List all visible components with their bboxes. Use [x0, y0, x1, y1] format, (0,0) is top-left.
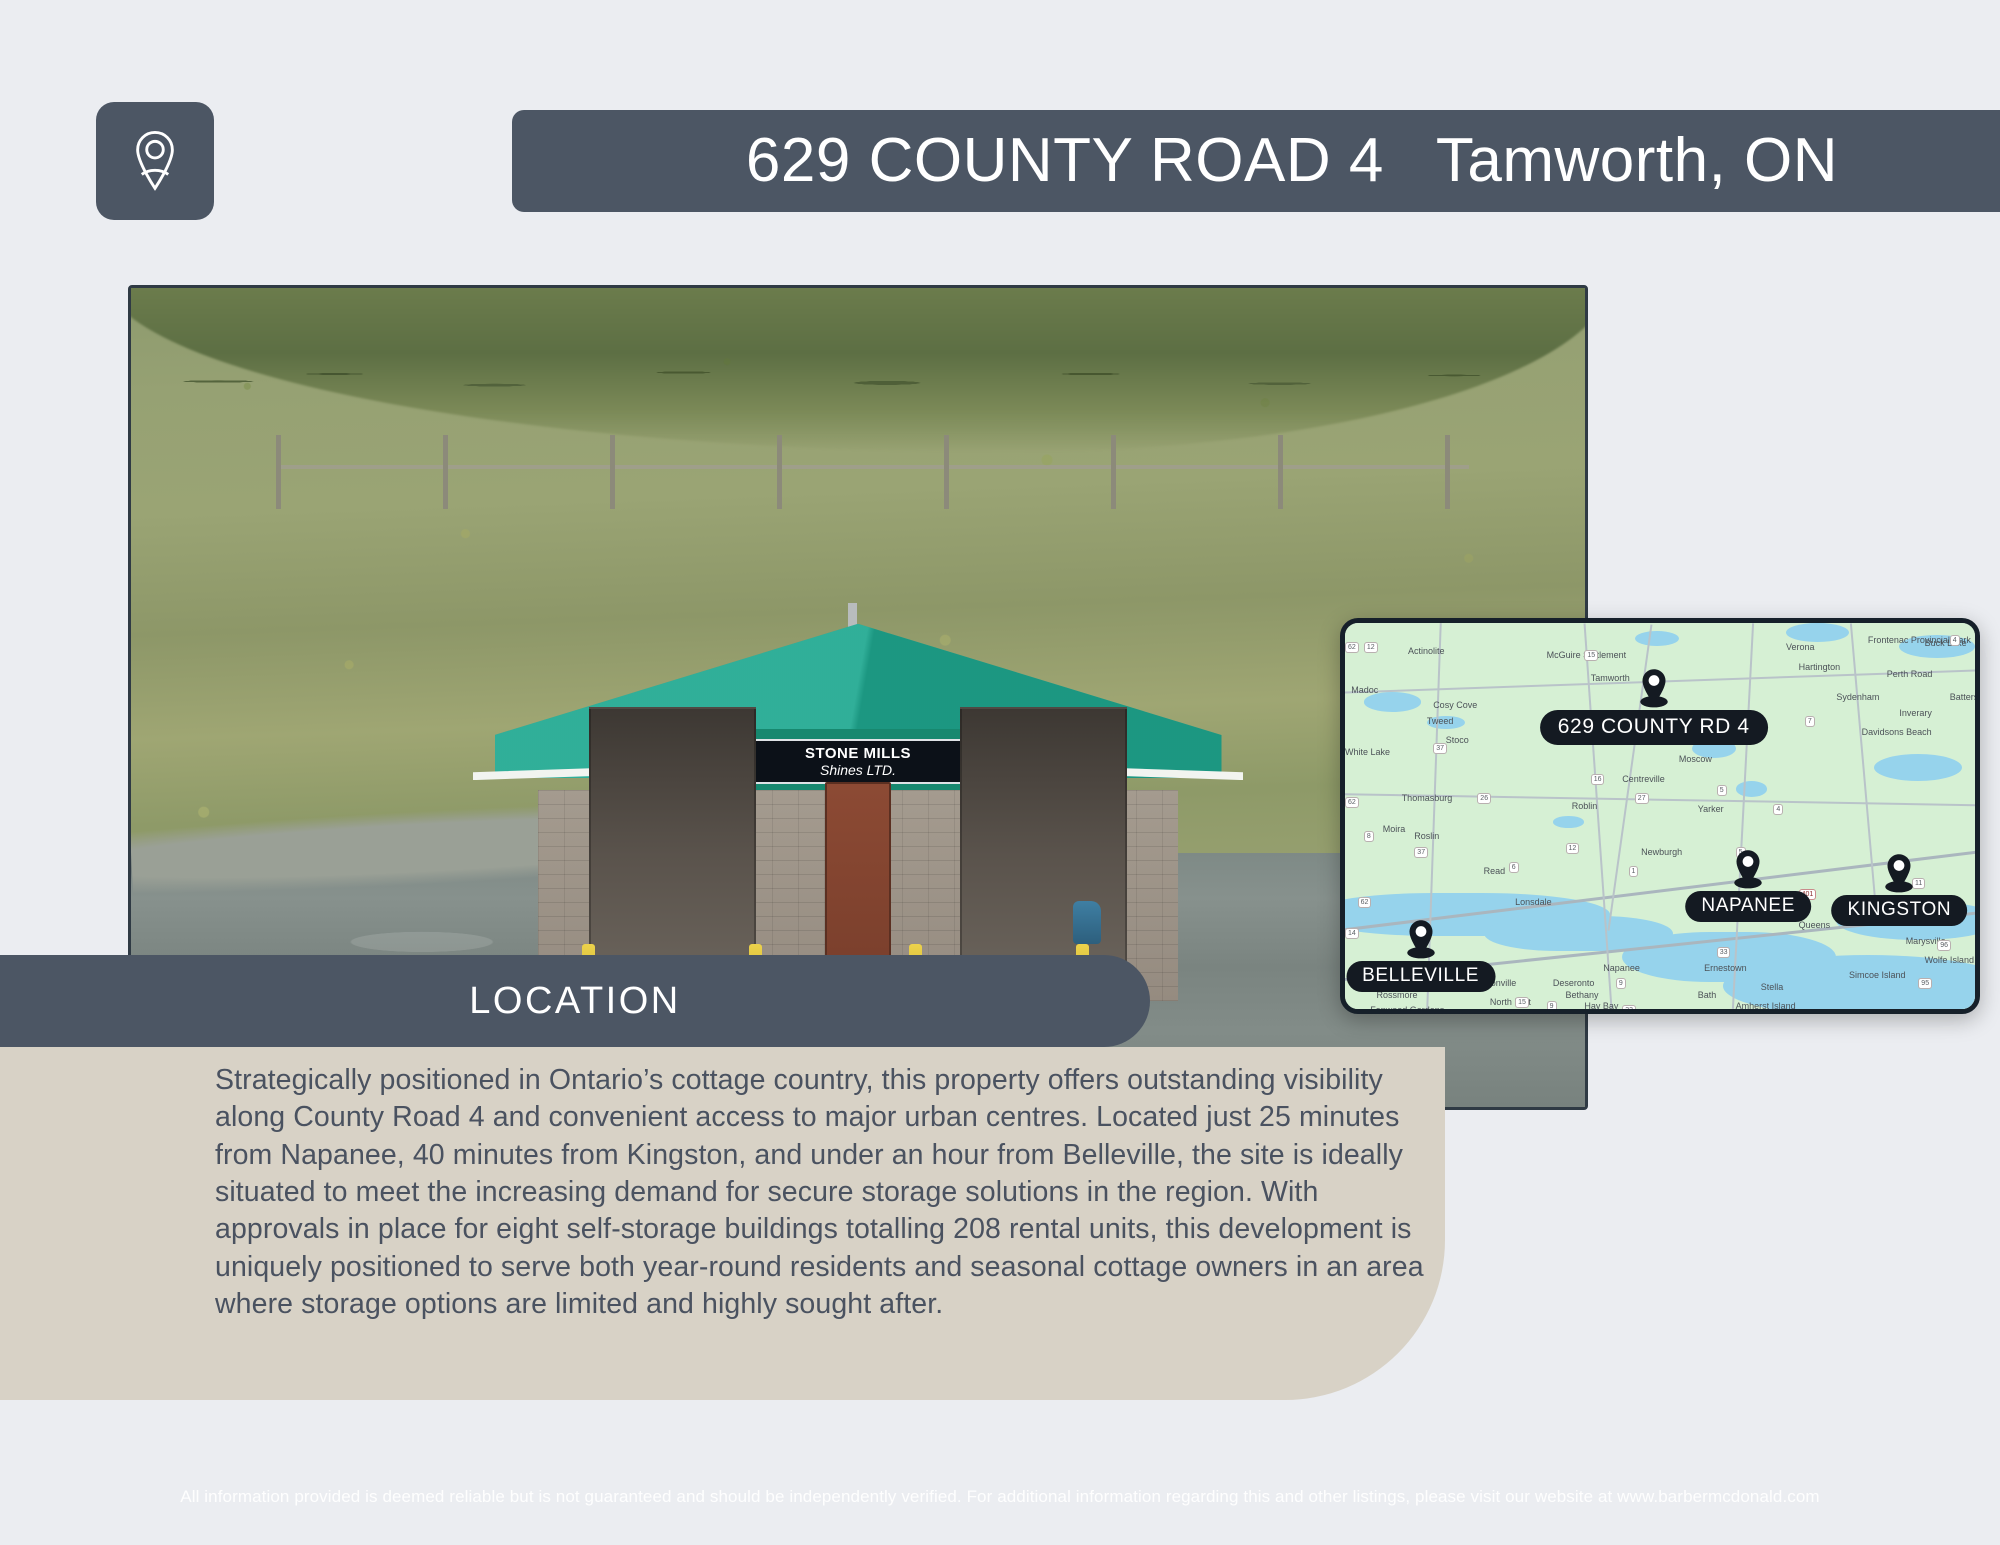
map-place-label: Moira	[1383, 824, 1406, 834]
map-place-chip: BELLEVILLE	[1346, 961, 1495, 992]
map-place-label: Ernestown	[1704, 963, 1747, 973]
slide-root: 629 COUNTY ROAD 4 Tamworth, ON STONE MIL…	[0, 0, 2000, 1545]
map-route-shield: 4	[1950, 635, 1960, 646]
map-route-shield: 62	[1358, 897, 1372, 908]
map-place-label: Bethany	[1566, 990, 1599, 1000]
map-place-label: Tamworth	[1591, 673, 1630, 683]
map-place-label: Perth Road	[1887, 669, 1933, 679]
map-place-label: Madoc	[1351, 685, 1378, 695]
map-route-shield: 9	[1547, 1001, 1557, 1012]
map-place-label: Stoco	[1446, 735, 1469, 745]
map-place-label: Sydenham	[1836, 692, 1879, 702]
location-map-inset[interactable]: ActinoliteMadocCosy CoveTweedStocoWhite …	[1340, 618, 1980, 1014]
map-place-label: Tweed	[1427, 716, 1454, 726]
signboard-line-2: Shines LTD.	[820, 763, 896, 777]
map-place-label: Lonsdale	[1515, 897, 1552, 907]
map-route-shield: 33	[1717, 947, 1731, 958]
map-place-label: Verona	[1786, 642, 1815, 652]
subject-property-pin[interactable]	[1639, 668, 1669, 708]
map-place-chip: NAPANEE	[1685, 891, 1811, 922]
map-route-shield: 1	[1629, 866, 1639, 877]
map-place-label: Moscow	[1679, 754, 1712, 764]
hero-wash-bay-right	[960, 707, 1127, 978]
map-place-label: Inverary	[1899, 708, 1932, 718]
map-route-shield: 62	[1345, 642, 1359, 653]
map-place-label: Hay Bay	[1584, 1001, 1618, 1011]
map-route-shield: 96	[1937, 940, 1951, 951]
map-route-shield: 14	[1345, 928, 1359, 939]
map-place-label: Battersea	[1950, 692, 1980, 702]
map-route-shield: 4	[1773, 804, 1783, 815]
map-place-label: Wolfe Island	[1925, 955, 1974, 965]
map-place-label: Bath	[1698, 990, 1717, 1000]
map-route-shield: 6	[1509, 862, 1519, 873]
map-place-label: Newburgh	[1641, 847, 1682, 857]
map-route-shield: 12	[1566, 843, 1580, 854]
map-route-shield: 7	[1805, 716, 1815, 727]
map-place-label: Simcoe Island	[1849, 970, 1906, 980]
map-route-shield: 62	[1345, 797, 1359, 808]
belleville-pin[interactable]	[1406, 919, 1436, 959]
napanee-pin[interactable]	[1733, 849, 1763, 889]
map-route-shield: 95	[1918, 978, 1932, 989]
map-place-label: Hartington	[1799, 662, 1841, 672]
map-place-label: Cosy Cove	[1433, 700, 1477, 710]
map-route-shield: 33	[1622, 1005, 1636, 1014]
map-route-shield: 8	[1364, 831, 1374, 842]
map-route-shield: 15	[1515, 997, 1529, 1008]
map-place-chip: 629 COUNTY RD 4	[1540, 710, 1768, 745]
map-route-shield: 37	[1433, 743, 1447, 754]
map-place-label: Roblin	[1572, 801, 1598, 811]
map-place-label: Fenwood Gardens	[1370, 1005, 1444, 1014]
hero-fence	[276, 435, 1468, 509]
property-title-bar: 629 COUNTY ROAD 4 Tamworth, ON	[512, 110, 2000, 212]
hero-car-in-bay	[1073, 901, 1101, 944]
map-place-label: Queens	[1799, 920, 1831, 930]
location-description-text: Strategically positioned in Ontario’s co…	[215, 1062, 1445, 1323]
map-place-label: Stella	[1761, 982, 1784, 992]
map-place-label: Napanee	[1603, 963, 1640, 973]
footer-bar: All information provided is deemed relia…	[0, 1449, 2000, 1545]
footer-disclaimer: All information provided is deemed relia…	[180, 1487, 1819, 1507]
map-place-label: Davidsons Beach	[1862, 727, 1932, 737]
hero-wash-bay-left	[589, 707, 756, 978]
map-route-shield: 9	[1616, 978, 1626, 989]
location-pin-icon	[124, 130, 186, 192]
map-route-shield: 15	[1584, 650, 1598, 661]
map-place-label: Centreville	[1622, 774, 1665, 784]
location-section-banner: LOCATION	[0, 955, 1150, 1047]
map-route-shield: 26	[1477, 793, 1491, 804]
map-route-shield: 12	[1364, 642, 1378, 653]
section-heading: LOCATION	[469, 980, 680, 1023]
hero-entry-door	[825, 782, 890, 978]
map-place-label: Deseronto	[1553, 978, 1595, 988]
map-place-label: White Lake	[1345, 747, 1390, 757]
map-place-label: Roslin	[1414, 831, 1439, 841]
map-place-label: Thomasburg	[1402, 793, 1453, 803]
map-place-label: Yarker	[1698, 804, 1724, 814]
page-title: 629 COUNTY ROAD 4 Tamworth, ON	[746, 130, 1838, 192]
map-place-label: Actinolite	[1408, 646, 1445, 656]
map-place-label: Read	[1484, 866, 1506, 876]
location-description-panel: Strategically positioned in Ontario’s co…	[0, 1047, 1445, 1400]
signboard-line-1: STONE MILLS	[805, 746, 911, 761]
map-route-shield: 27	[1635, 793, 1649, 804]
hero-building: STONE MILLS Shines LTD.	[495, 624, 1222, 1001]
location-pin-badge	[96, 102, 214, 220]
map-place-chip: KINGSTON	[1832, 895, 1968, 926]
map-place-label: Amherst Island	[1736, 1001, 1796, 1011]
map-route-shield: 16	[1591, 774, 1605, 785]
map-route-shield: 5	[1717, 785, 1727, 796]
map-route-shield: 37	[1414, 847, 1428, 858]
kingston-pin[interactable]	[1884, 853, 1914, 893]
